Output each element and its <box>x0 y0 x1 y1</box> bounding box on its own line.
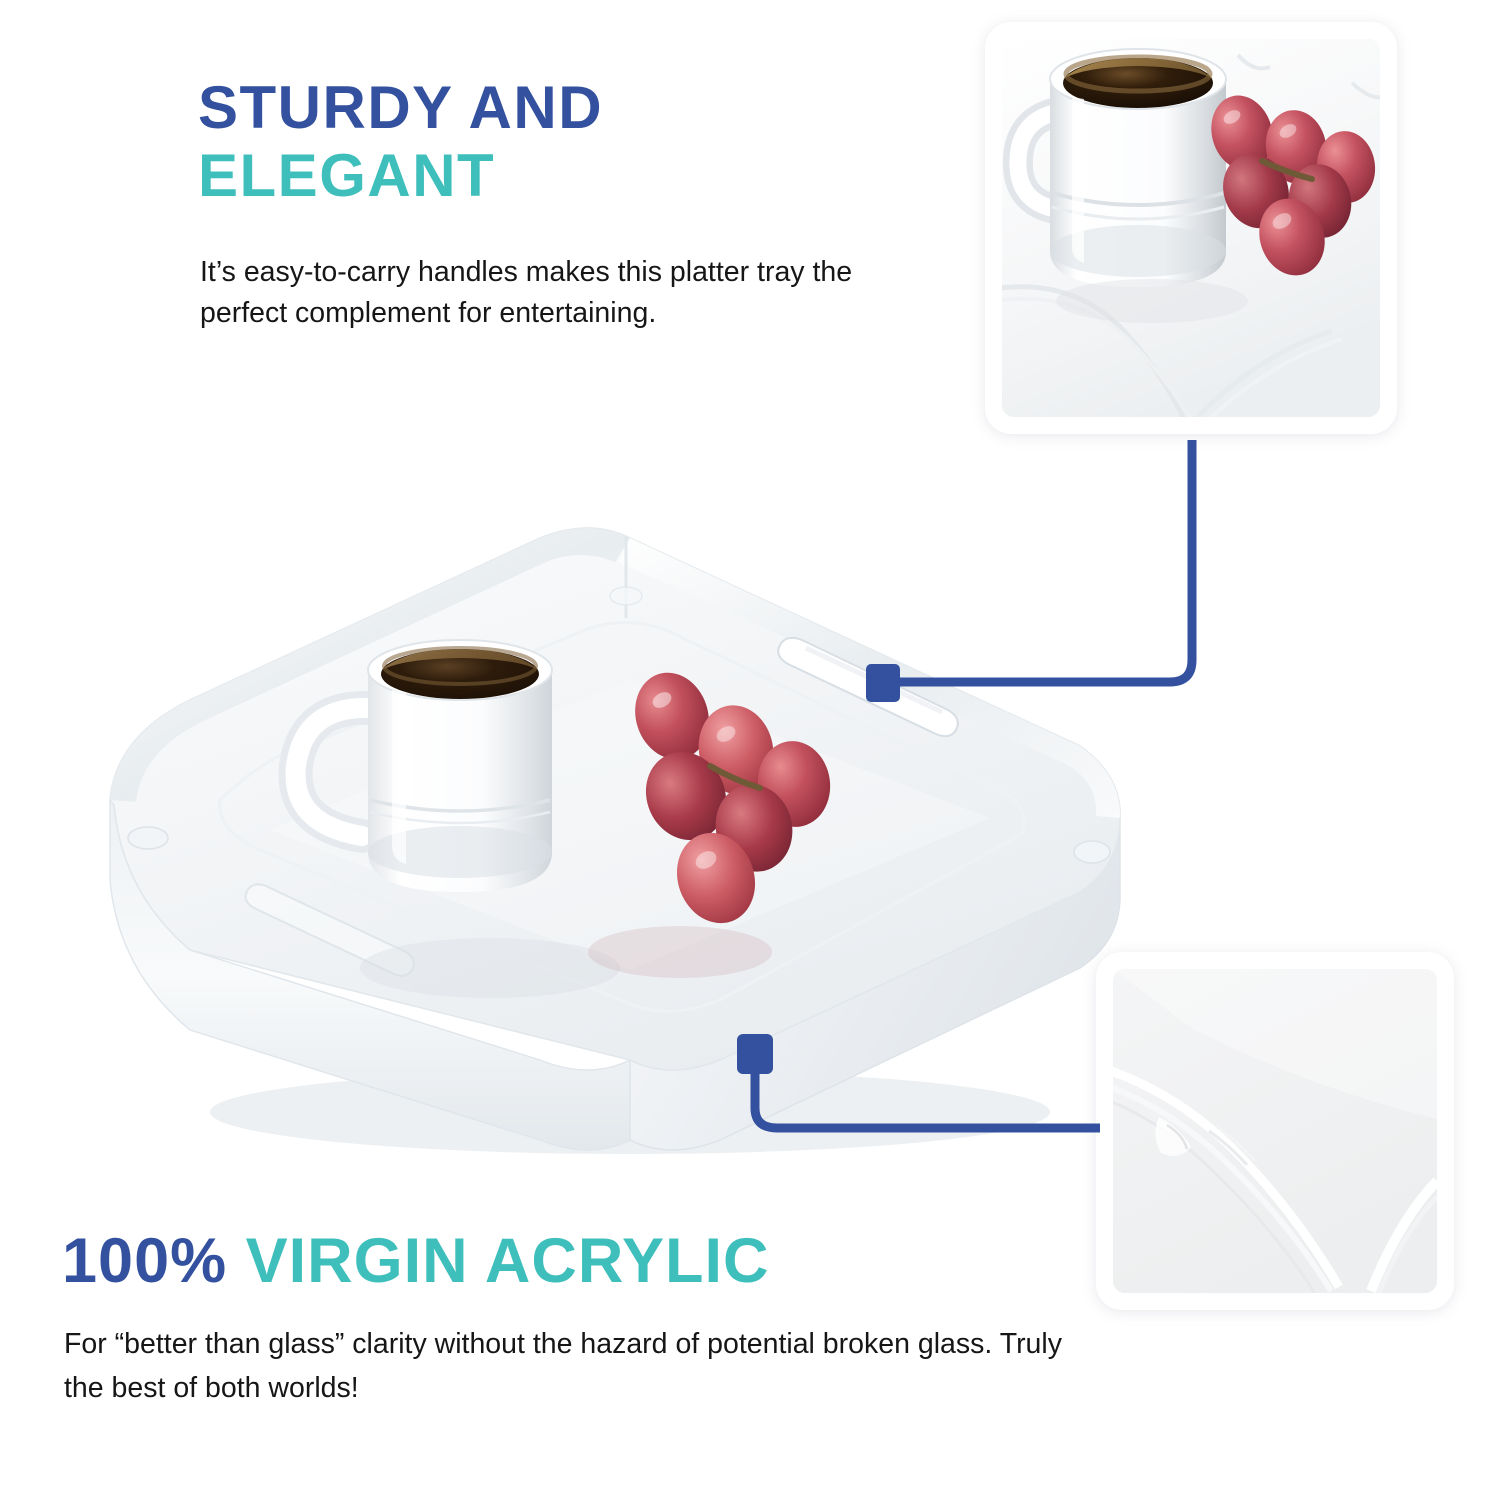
bottom-heading-percent: 100% <box>62 1226 227 1296</box>
callout-inset-clarity-detail <box>1096 952 1454 1310</box>
callout-inset-handle-detail <box>985 22 1397 434</box>
top-feature-body-text: It’s easy-to-carry handles makes this pl… <box>200 252 860 334</box>
top-heading-line-2: ELEGANT <box>198 146 878 206</box>
top-feature-heading: STURDY AND ELEGANT <box>198 78 878 206</box>
infographic-canvas: STURDY AND ELEGANT It’s easy-to-carry ha… <box>0 0 1501 1501</box>
hero-product-image <box>70 500 1140 1180</box>
top-heading-line-1: STURDY AND <box>198 78 878 138</box>
callout-inset-handle-image <box>1002 39 1380 417</box>
callout-inset-clarity-image <box>1113 969 1437 1293</box>
bottom-feature-body-text: For “better than glass” clarity without … <box>64 1322 1094 1410</box>
bottom-heading-material: VIRGIN ACRYLIC <box>227 1226 769 1296</box>
bottom-feature-heading: 100% VIRGIN ACRYLIC <box>62 1228 1062 1294</box>
